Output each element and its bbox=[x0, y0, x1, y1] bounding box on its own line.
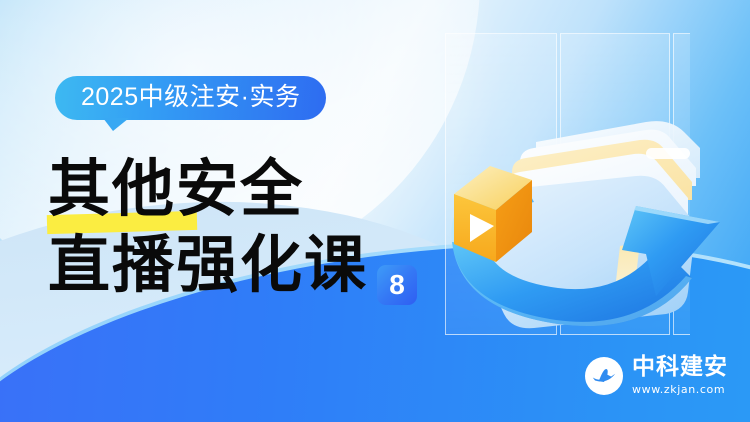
course-tag-pill: 2025中级注安·实务 bbox=[55, 76, 326, 120]
zkjan-mark-icon bbox=[585, 357, 623, 395]
title-line-2-row: 直播强化课8 bbox=[48, 234, 468, 302]
title-line-1-row: 其他安全 bbox=[48, 158, 468, 220]
episode-badge: 8 bbox=[377, 265, 417, 305]
brand-text: 中科建安 www.zkjan.com bbox=[632, 356, 728, 395]
title-line-1: 其他安全 bbox=[48, 152, 304, 225]
brand-name: 中科建安 bbox=[632, 356, 728, 379]
headline-block: 其他安全 直播强化课8 bbox=[48, 158, 468, 302]
title-line-2: 直播强化课 bbox=[48, 228, 368, 301]
brand-logo: 中科建安 www.zkjan.com bbox=[585, 356, 728, 395]
brand-url: www.zkjan.com bbox=[632, 384, 728, 395]
course-banner: 2025中级注安·实务 其他安全 直播强化课8 中科建安 www.zkjan.c… bbox=[0, 0, 750, 422]
course-tag-tail bbox=[103, 118, 129, 131]
course-tag: 2025中级注安·实务 bbox=[55, 76, 326, 120]
course-tag-label: 2025中级注安·实务 bbox=[81, 83, 300, 111]
